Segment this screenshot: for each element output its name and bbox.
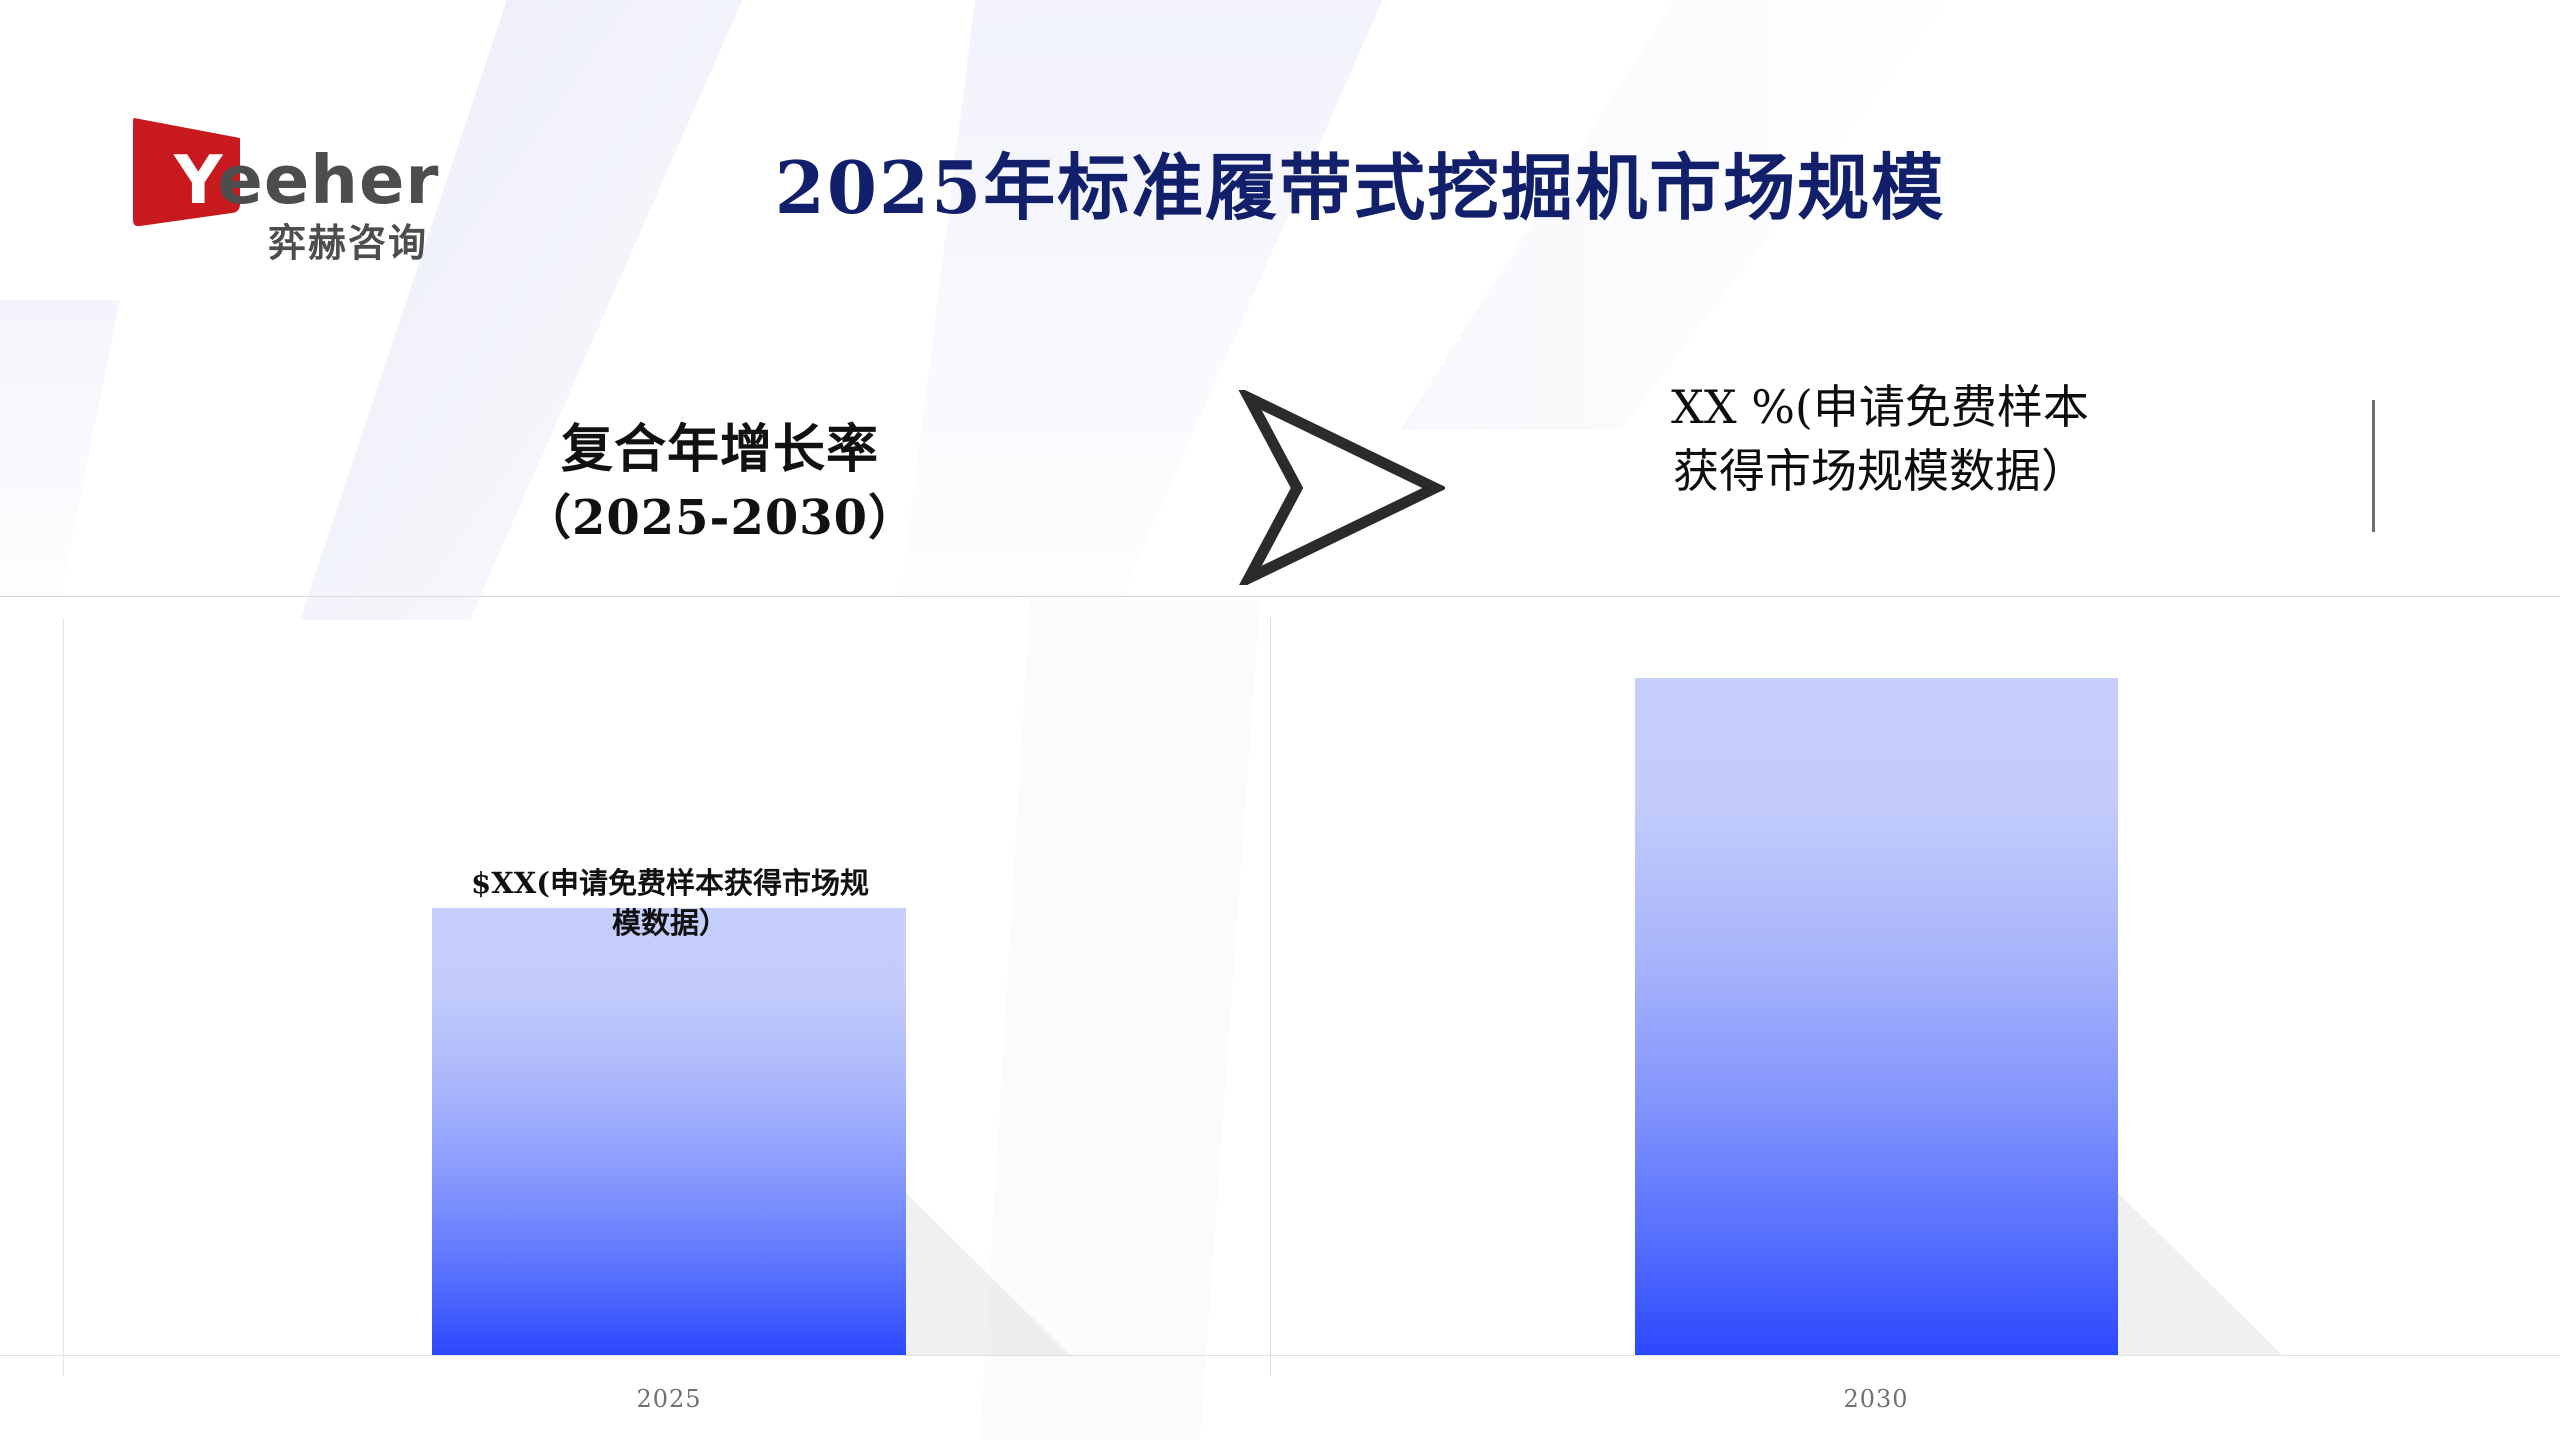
cagr-value-line2: 获得市场规模数据） bbox=[1600, 439, 2160, 503]
slide-header: Yeeher 弈赫咨询 2025年标准履带式挖掘机市场规模 复合年增长率 （20… bbox=[0, 0, 2560, 597]
bar-shadow-2025 bbox=[906, 1193, 1070, 1355]
cagr-label-block: 复合年增长率 （2025-2030） bbox=[470, 415, 970, 551]
page-title: 2025年标准履带式挖掘机市场规模 bbox=[560, 140, 2160, 236]
header-vertical-divider bbox=[2372, 400, 2375, 532]
bar-2030[interactable] bbox=[1635, 678, 2118, 1355]
arrow-right-outline-icon bbox=[1235, 390, 1445, 585]
chart-panel-divider bbox=[1270, 618, 1271, 1376]
chart-baseline-axis bbox=[0, 1355, 2560, 1356]
slide-canvas: Yeeher 弈赫咨询 2025年标准履带式挖掘机市场规模 复合年增长率 （20… bbox=[0, 0, 2560, 1440]
logo-subtitle: 弈赫咨询 bbox=[268, 220, 428, 266]
cagr-period: （2025-2030） bbox=[470, 485, 970, 551]
logo-wordmark: Yeeher bbox=[174, 140, 464, 220]
x-axis-label-2025: 2025 bbox=[499, 1384, 839, 1414]
logo-word-rest: eeher bbox=[217, 141, 439, 219]
bar-value-label-2025-line1: $XX(申请免费样本获得市场规 bbox=[370, 863, 970, 903]
cagr-value-line1: XX %(申请免费样本 bbox=[1600, 375, 2160, 439]
x-axis-label-2030: 2030 bbox=[1706, 1384, 2046, 1414]
logo-word-initial: Y bbox=[174, 141, 217, 219]
yeeher-logo: Yeeher 弈赫咨询 bbox=[128, 112, 458, 302]
cagr-value-callout: XX %(申请免费样本 获得市场规模数据） bbox=[1600, 375, 2160, 503]
chart-panel-left-border bbox=[63, 618, 64, 1376]
bar-value-label-2025-line2: 模数据） bbox=[370, 903, 970, 943]
bar-2025[interactable] bbox=[432, 908, 906, 1355]
market-size-bar-chart: $XX(申请免费样本获得市场规 模数据） 2025 2030 bbox=[0, 597, 2560, 1440]
cagr-label: 复合年增长率 bbox=[470, 415, 970, 485]
bar-shadow-2030 bbox=[2118, 1193, 2282, 1355]
bar-value-label-2025: $XX(申请免费样本获得市场规 模数据） bbox=[370, 863, 970, 943]
